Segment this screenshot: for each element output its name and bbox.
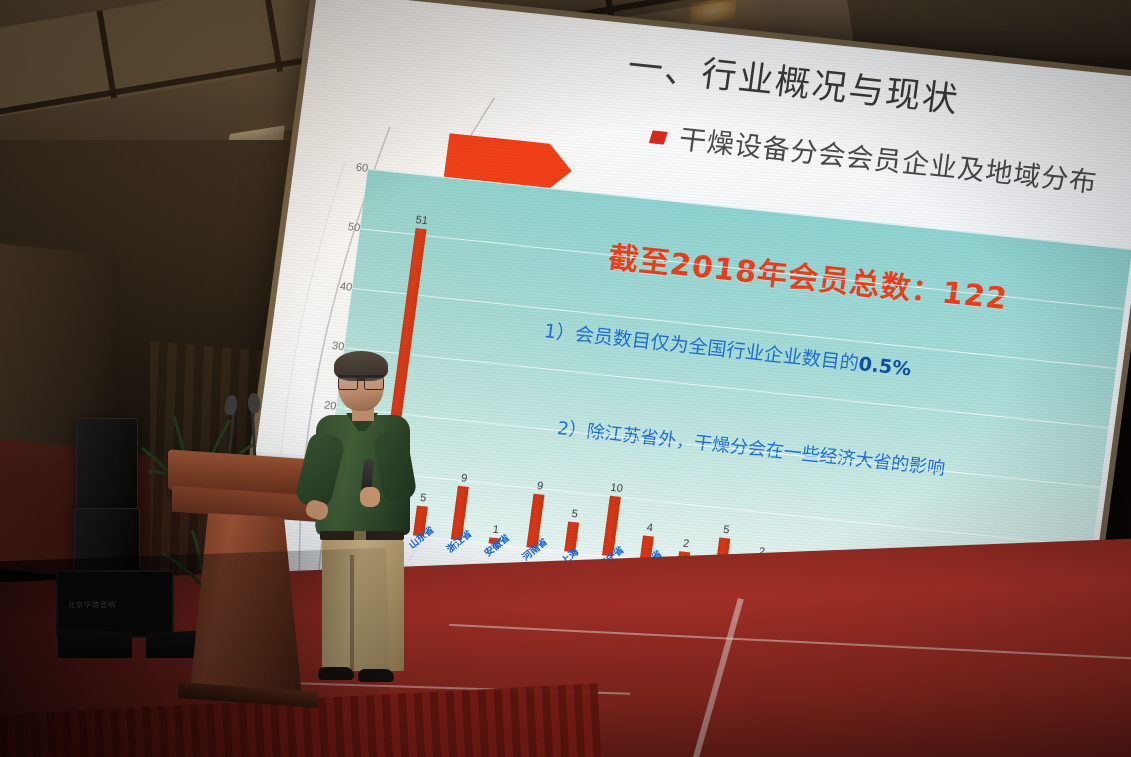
podium-body	[190, 512, 302, 698]
chart-bar-value: 4	[646, 522, 654, 535]
eyeglasses-icon	[338, 375, 384, 386]
presenter-right-hand	[360, 487, 380, 507]
conference-photo-scene: 协会干燥设备分会 业年会	[0, 0, 1131, 757]
chart-y-tick: 40	[310, 277, 353, 293]
presenter-legs	[322, 539, 404, 671]
presenter-shoe	[318, 667, 354, 680]
presenter-belt-buckle	[354, 531, 366, 540]
red-square-bullet-icon	[649, 130, 668, 144]
chart-bar-value: 9	[536, 480, 544, 493]
presenter	[300, 355, 425, 695]
chart-bar-value: 5	[723, 524, 731, 537]
chart-y-tick: 50	[318, 218, 361, 234]
chart-bar-value: 10	[610, 482, 624, 495]
presenter-shoe	[358, 669, 394, 682]
pa-speaker-top	[76, 418, 138, 514]
stage-seam	[449, 624, 1131, 663]
stage-seam	[684, 598, 744, 757]
chart-bar-value: 51	[415, 214, 429, 227]
chart-bar-value: 9	[460, 472, 468, 485]
road-case: 北京华瑞音响	[56, 570, 174, 638]
slide-subtitle: 干燥设备分会会员企业及地域分布	[677, 124, 1099, 199]
chart-bar-value: 2	[682, 538, 690, 551]
chart-y-tick: 30	[302, 337, 345, 353]
road-case-logo: 北京华瑞音响	[68, 600, 116, 610]
chart-bar-value: 5	[571, 508, 579, 521]
presenter-leg-seam	[350, 555, 354, 671]
stage-monitor	[58, 628, 132, 658]
